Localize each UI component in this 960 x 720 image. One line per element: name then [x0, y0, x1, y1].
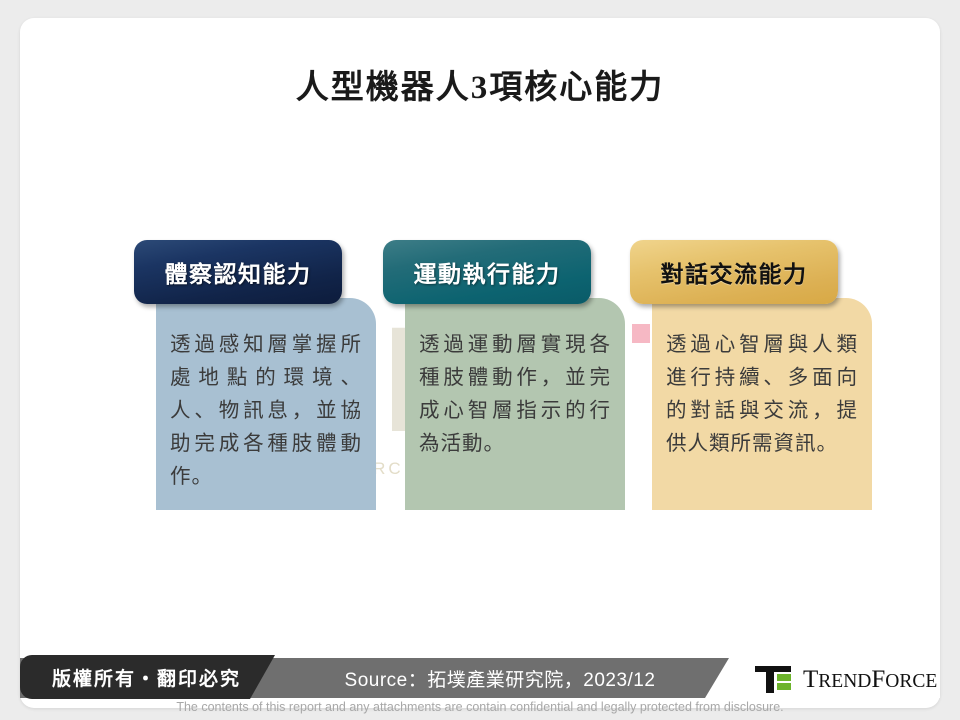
card-header-dialogue: 對話交流能力 — [630, 240, 838, 304]
copyright-badge: 版權所有‧翻印必究 — [20, 655, 275, 699]
slide-root: TRI TOPOLOGY RESEARCH INSTITUTE 人型機器人3項核… — [0, 0, 960, 720]
trendforce-logo: TRENDFORCE — [755, 663, 937, 695]
trendforce-mark-icon — [755, 666, 795, 693]
source-note: Source：拓墣產業研究院，2023/12 — [290, 658, 710, 698]
card-header-label-motion: 運動執行能力 — [414, 255, 561, 289]
trendforce-wordmark: TRENDFORCE — [803, 667, 937, 692]
logo-letter-f: F — [871, 666, 885, 693]
card-body-perception: 透過感知層掌握所處地點的環境、人、物訊息，並協助完成各種肢體動作。 — [156, 298, 376, 510]
card-body-text-perception: 透過感知層掌握所處地點的環境、人、物訊息，並協助完成各種肢體動作。 — [170, 328, 362, 493]
card-body-dialogue: 透過心智層與人類進行持續、多面向的對話與交流，提供人類所需資訊。 — [652, 298, 872, 510]
disclaimer-text: The contents of this report and any atta… — [20, 700, 940, 714]
logo-letters-orce: ORCE — [885, 671, 937, 692]
card-body-text-motion: 透過運動層實現各種肢體動作，並完成心智層指示的行為活動。 — [419, 328, 611, 460]
card-header-perception: 體察認知能力 — [134, 240, 342, 304]
card-body-text-dialogue: 透過心智層與人類進行持續、多面向的對話與交流，提供人類所需資訊。 — [666, 328, 858, 460]
card-header-motion: 運動執行能力 — [383, 240, 591, 304]
card-header-label-perception: 體察認知能力 — [165, 255, 312, 289]
card-header-label-dialogue: 對話交流能力 — [661, 255, 808, 289]
logo-letter-t: T — [803, 666, 818, 693]
capability-cards: 透過感知層掌握所處地點的環境、人、物訊息，並協助完成各種肢體動作。 體察認知能力… — [20, 18, 940, 708]
card-body-motion: 透過運動層實現各種肢體動作，並完成心智層指示的行為活動。 — [405, 298, 625, 510]
logo-letters-rend: REND — [818, 671, 871, 692]
slide-surface: TRI TOPOLOGY RESEARCH INSTITUTE 人型機器人3項核… — [20, 18, 940, 708]
copyright-badge-label: 版權所有‧翻印必究 — [52, 664, 241, 691]
